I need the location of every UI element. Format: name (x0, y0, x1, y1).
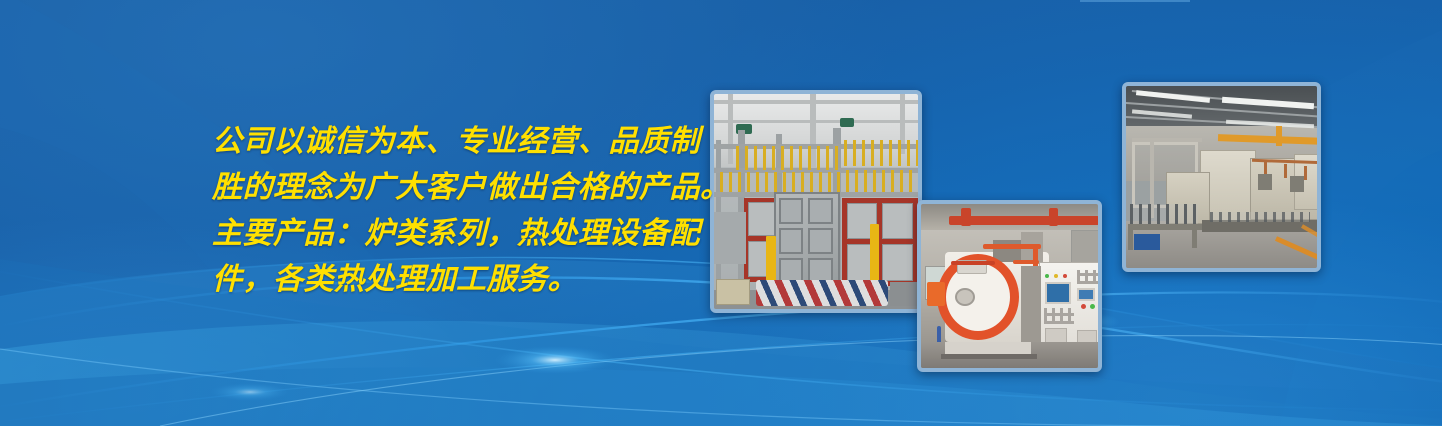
slogan-text-block: 公司以诚信为本、专业经营、品质制 胜的理念为广大客户做出合格的产品。 主要产品：… (212, 119, 732, 303)
photo-furnace-line (1122, 82, 1321, 272)
slogan-line-3: 主要产品：炉类系列，热处理设备配 (212, 211, 732, 257)
company-promo-banner: 公司以诚信为本、专业经营、品质制 胜的理念为广大客户做出合格的产品。 主要产品：… (0, 0, 1442, 426)
photo-vacuum-furnace (917, 200, 1102, 372)
slogan-line-2: 胜的理念为广大客户做出合格的产品。 (212, 165, 732, 211)
slogan-line-1: 公司以诚信为本、专业经营、品质制 (212, 119, 732, 165)
photo-furnace-line-image (1126, 86, 1317, 268)
photo-furnace-bank (710, 90, 922, 313)
photo-vacuum-furnace-image (921, 204, 1098, 368)
photo-furnace-bank-image (714, 94, 918, 309)
slogan-line-4: 件，各类热处理加工服务。 (212, 257, 732, 303)
